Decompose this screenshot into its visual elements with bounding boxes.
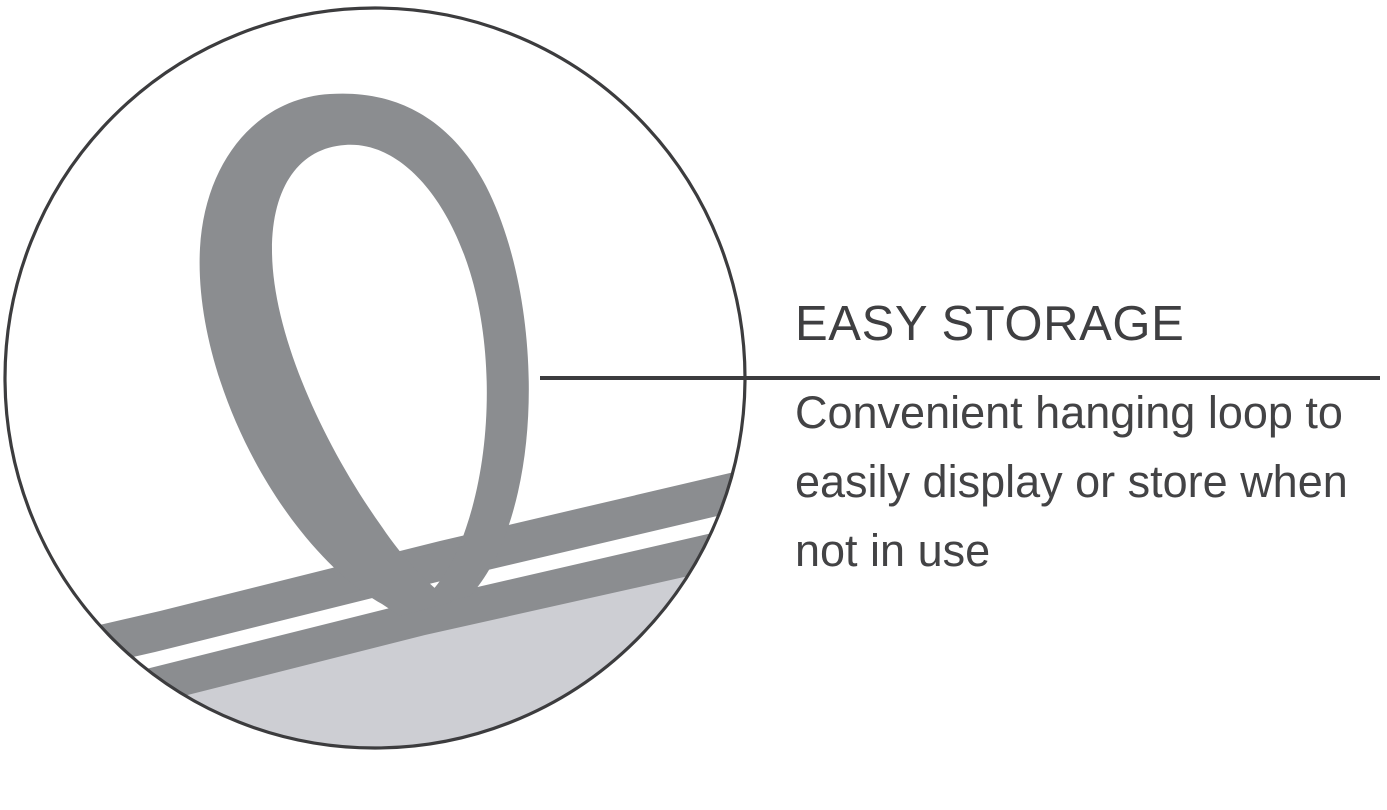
circle-contents — [0, 0, 760, 805]
callout-text-block: EASY STORAGE Convenient hanging loop to … — [795, 296, 1375, 585]
feature-description: Convenient hanging loop to easily displa… — [795, 352, 1370, 585]
hanging-loop-illustration-svg — [0, 0, 760, 805]
product-detail-illustration — [0, 0, 760, 805]
feature-callout: EASY STORAGE Convenient hanging loop to … — [0, 0, 1387, 805]
feature-title: EASY STORAGE — [795, 296, 1375, 352]
